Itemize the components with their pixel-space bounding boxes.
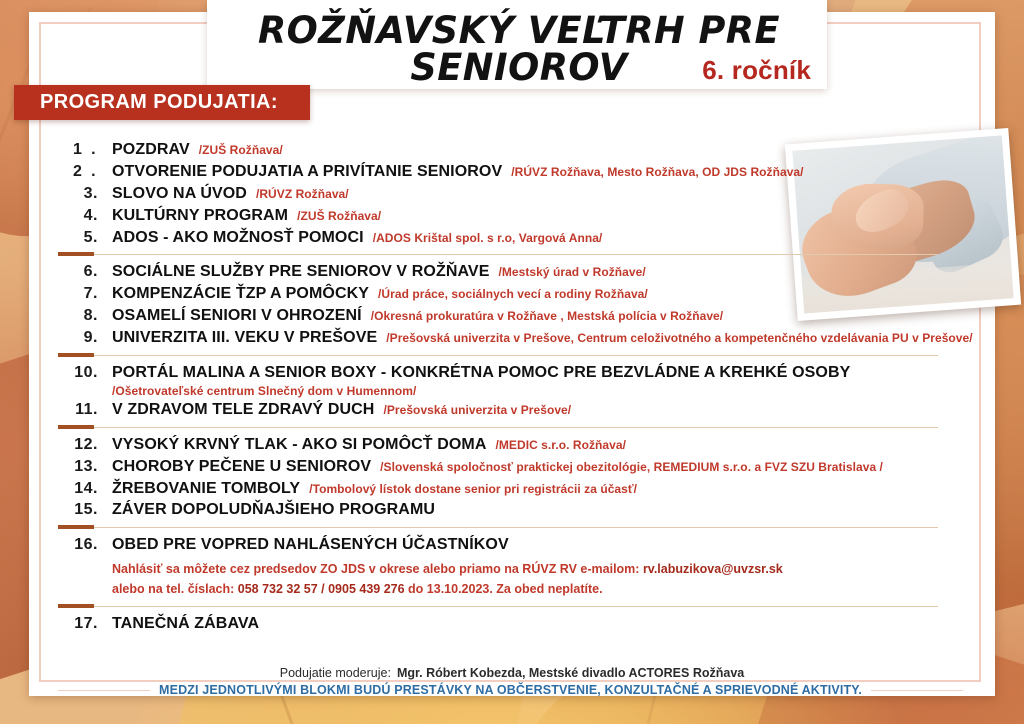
program-group: 6.SOCIÁLNE SLUŽBY PRE SENIOROV V ROŽŇAVE… — [58, 261, 963, 349]
contact-phone-numbers[interactable]: 058 732 32 57 / 0905 439 276 — [238, 582, 405, 596]
program-item-body: KULTÚRNY PROGRAM/ZUŠ Rožňava/ — [98, 207, 963, 226]
contact-deadline: do 13.10.2023. Za obed neplatíte. — [405, 582, 603, 596]
program-item: 7.KOMPENZÁCIE ŤZP A POMÔCKY/Úrad práce, … — [58, 283, 963, 305]
program-item-number: 15. — [58, 501, 98, 520]
footer-note-text: MEDZI JEDNOTLIVÝMI BLOKMI BUDÚ PRESTÁVKY… — [159, 683, 862, 697]
footer-note: MEDZI JEDNOTLIVÝMI BLOKMI BUDÚ PRESTÁVKY… — [58, 683, 963, 697]
footer-rule-right — [871, 690, 963, 691]
edition-label: 6. ročník — [702, 55, 811, 86]
program-item-note: /Prešovská univerzita v Prešove/ — [383, 403, 571, 417]
program-item-title: ADOS - AKO MOŽNOSŤ POMOCI — [112, 229, 364, 246]
program-item-line: SOCIÁLNE SLUŽBY PRE SENIOROV V ROŽŇAVE/M… — [112, 263, 963, 282]
footer-rule-left — [58, 690, 150, 691]
program-item-title: KOMPENZÁCIE ŤZP A POMÔCKY — [112, 285, 369, 302]
program-list: 1 .POZDRAV/ZUŠ Rožňava/2 .OTVORENIE PODU… — [58, 139, 963, 635]
program-item-note: /Úrad práce, sociálnych vecí a rodiny Ro… — [378, 287, 648, 301]
separator-dash — [58, 604, 94, 608]
program-item-line: ADOS - AKO MOŽNOSŤ POMOCI/ADOS Krištal s… — [112, 229, 963, 248]
group-separator — [58, 521, 963, 534]
program-item-body: OSAMELÍ SENIORI V OHROZENÍ/Okresná proku… — [98, 307, 963, 326]
separator-dash — [58, 525, 94, 529]
program-item-line: KULTÚRNY PROGRAM/ZUŠ Rožňava/ — [112, 207, 963, 226]
program-item-body: ŽREBOVANIE TOMBOLY/Tombolový lístok dost… — [98, 480, 963, 499]
program-item: 1 .POZDRAV/ZUŠ Rožňava/ — [58, 139, 963, 161]
program-group: 17.TANEČNÁ ZÁBAVA — [58, 613, 963, 635]
program-item: 12.VYSOKÝ KRVNÝ TLAK - AKO SI POMÔCŤ DOM… — [58, 434, 963, 456]
program-item-body: SLOVO NA ÚVOD/RÚVZ Rožňava/ — [98, 185, 963, 204]
group-separator — [58, 421, 963, 434]
program-item-title: SOCIÁLNE SLUŽBY PRE SENIOROV V ROŽŇAVE — [112, 263, 489, 280]
separator-dash — [58, 252, 94, 256]
program-item-number: 11. — [58, 401, 98, 420]
moderator-label: Podujatie moderuje: — [280, 666, 391, 680]
program-item: 17.TANEČNÁ ZÁBAVA — [58, 613, 963, 635]
program-item-body: POZDRAV/ZUŠ Rožňava/ — [98, 141, 963, 160]
program-item-number: 13. — [58, 458, 98, 477]
program-item-number: 12. — [58, 436, 98, 455]
program-item: 9.UNIVERZITA III. VEKU V PREŠOVE/Prešovs… — [58, 327, 963, 349]
program-item-title: OTVORENIE PODUJATIA A PRIVÍTANIE SENIORO… — [112, 163, 502, 180]
program-item: 2 .OTVORENIE PODUJATIA A PRIVÍTANIE SENI… — [58, 161, 963, 183]
program-item-number: 10. — [58, 364, 98, 383]
contact-line-email: Nahlásiť sa môžete cez predsedov ZO JDS … — [112, 560, 963, 579]
program-item-note: /ADOS Krištal spol. s r.o, Vargová Anna/ — [373, 231, 603, 245]
program-item: 16.OBED PRE VOPRED NAHLÁSENÝCH ÚČASTNÍKO… — [58, 534, 963, 600]
contact-phone-label: alebo na tel. číslach: — [112, 582, 238, 596]
program-item: 14.ŽREBOVANIE TOMBOLY/Tombolový lístok d… — [58, 478, 963, 500]
program-item-title: V ZDRAVOM TELE ZDRAVÝ DUCH — [112, 401, 374, 418]
separator-line — [58, 355, 938, 356]
program-item-line: CHOROBY PEČENE U SENIOROV/Slovenská spol… — [112, 458, 963, 477]
program-item-note: /Okresná prokuratúra v Rožňave , Mestská… — [371, 309, 723, 323]
contact-instructions: Nahlásiť sa môžete cez predsedov ZO JDS … — [112, 562, 643, 576]
program-item-line: UNIVERZITA III. VEKU V PREŠOVE/Prešovská… — [112, 329, 973, 348]
program-item-line: V ZDRAVOM TELE ZDRAVÝ DUCH/Prešovská uni… — [112, 401, 963, 420]
program-item: 5.ADOS - AKO MOŽNOSŤ POMOCI/ADOS Krištal… — [58, 227, 963, 249]
moderator-line: Podujatie moderuje:Mgr. Róbert Kobezda, … — [0, 666, 1024, 680]
program-item-note: /ZUŠ Rožňava/ — [297, 209, 381, 223]
program-item-body: OBED PRE VOPRED NAHLÁSENÝCH ÚČASTNÍKOVNa… — [98, 536, 963, 599]
program-item-number: 4. — [58, 207, 98, 226]
group-separator — [58, 349, 963, 362]
program-item: 6.SOCIÁLNE SLUŽBY PRE SENIOROV V ROŽŇAVE… — [58, 261, 963, 283]
program-item-line: PORTÁL MALINA A SENIOR BOXY - KONKRÉTNA … — [112, 364, 963, 383]
program-item-body: UNIVERZITA III. VEKU V PREŠOVE/Prešovská… — [98, 329, 973, 348]
program-item-title: OBED PRE VOPRED NAHLÁSENÝCH ÚČASTNÍKOV — [112, 536, 509, 553]
program-item-number: 2 . — [58, 163, 98, 182]
program-heading-label: PROGRAM PODUJATIA: — [40, 91, 278, 114]
program-item-number: 9. — [58, 329, 98, 348]
program-item-title: KULTÚRNY PROGRAM — [112, 207, 288, 224]
program-item-note: /Ošetrovateľské centrum Slnečný dom v Hu… — [112, 384, 963, 398]
separator-line — [58, 427, 938, 428]
program-item-number: 16. — [58, 536, 98, 555]
program-item-line: SLOVO NA ÚVOD/RÚVZ Rožňava/ — [112, 185, 963, 204]
program-item: 11.V ZDRAVOM TELE ZDRAVÝ DUCH/Prešovská … — [58, 399, 963, 421]
program-item-line: ZÁVER DOPOLUDŇAJŠIEHO PROGRAMU — [112, 501, 963, 520]
program-item: 8.OSAMELÍ SENIORI V OHROZENÍ/Okresná pro… — [58, 305, 963, 327]
program-item-note: /ZUŠ Rožňava/ — [199, 143, 283, 157]
program-item-note: /RÚVZ Rožňava/ — [256, 187, 349, 201]
leaf-vein — [280, 693, 324, 724]
program-item-note: /MEDIC s.r.o. Rožňava/ — [496, 438, 626, 452]
program-item-title: UNIVERZITA III. VEKU V PREŠOVE — [112, 329, 377, 346]
program-item-title: TANEČNÁ ZÁBAVA — [112, 615, 259, 632]
separator-line — [58, 606, 938, 607]
program-heading-banner: PROGRAM PODUJATIA: — [14, 85, 310, 120]
program-item-line: OSAMELÍ SENIORI V OHROZENÍ/Okresná proku… — [112, 307, 963, 326]
program-item-number: 3. — [58, 185, 98, 204]
program-item-title: VYSOKÝ KRVNÝ TLAK - AKO SI POMÔCŤ DOMA — [112, 436, 487, 453]
program-item-number: 6. — [58, 263, 98, 282]
program-group: 1 .POZDRAV/ZUŠ Rožňava/2 .OTVORENIE PODU… — [58, 139, 963, 248]
program-item-note: /RÚVZ Rožňava, Mesto Rožňava, OD JDS Rož… — [511, 165, 803, 179]
program-item-line: ŽREBOVANIE TOMBOLY/Tombolový lístok dost… — [112, 480, 963, 499]
program-item-number: 8. — [58, 307, 98, 326]
program-item-note: /Prešovská univerzita v Prešove, Centrum… — [386, 331, 972, 345]
program-item-title: SLOVO NA ÚVOD — [112, 185, 247, 202]
program-item-line: KOMPENZÁCIE ŤZP A POMÔCKY/Úrad práce, so… — [112, 285, 963, 304]
program-item-line: POZDRAV/ZUŠ Rožňava/ — [112, 141, 963, 160]
program-item: 4.KULTÚRNY PROGRAM/ZUŠ Rožňava/ — [58, 205, 963, 227]
program-item-note: /Mestský úrad v Rožňave/ — [498, 265, 645, 279]
moderator-value: Mgr. Róbert Kobezda, Mestské divadlo ACT… — [397, 666, 744, 680]
program-item-body: CHOROBY PEČENE U SENIOROV/Slovenská spol… — [98, 458, 963, 477]
title-plaque: ROŽŇAVSKÝ VEĽTRH PRE SENIOROV 6. ročník — [207, 0, 827, 89]
program-item-body: ADOS - AKO MOŽNOSŤ POMOCI/ADOS Krištal s… — [98, 229, 963, 248]
group-separator — [58, 248, 963, 261]
program-item-line: TANEČNÁ ZÁBAVA — [112, 615, 963, 634]
program-item-note: /Slovenská spoločnosť praktickej obezito… — [380, 460, 883, 474]
program-item: 13.CHOROBY PEČENE U SENIOROV/Slovenská s… — [58, 456, 963, 478]
contact-email[interactable]: rv.labuzikova@uvzsr.sk — [643, 562, 783, 576]
program-item-body: OTVORENIE PODUJATIA A PRIVÍTANIE SENIORO… — [98, 163, 963, 182]
separator-dash — [58, 353, 94, 357]
program-item-title: POZDRAV — [112, 141, 190, 158]
separator-line — [58, 254, 938, 255]
program-item-body: PORTÁL MALINA A SENIOR BOXY - KONKRÉTNA … — [98, 364, 963, 398]
group-separator — [58, 600, 963, 613]
program-item: 15.ZÁVER DOPOLUDŇAJŠIEHO PROGRAMU — [58, 499, 963, 521]
program-group: 12.VYSOKÝ KRVNÝ TLAK - AKO SI POMÔCŤ DOM… — [58, 434, 963, 522]
program-group: 16.OBED PRE VOPRED NAHLÁSENÝCH ÚČASTNÍKO… — [58, 534, 963, 600]
program-item-body: VYSOKÝ KRVNÝ TLAK - AKO SI POMÔCŤ DOMA/M… — [98, 436, 963, 455]
contact-line-phone: alebo na tel. číslach: 058 732 32 57 / 0… — [112, 580, 963, 599]
separator-dash — [58, 425, 94, 429]
program-item-line: OBED PRE VOPRED NAHLÁSENÝCH ÚČASTNÍKOV — [112, 536, 963, 555]
program-item-line: OTVORENIE PODUJATIA A PRIVÍTANIE SENIORO… — [112, 163, 963, 182]
program-item-body: ZÁVER DOPOLUDŇAJŠIEHO PROGRAMU — [98, 501, 963, 520]
registration-contact-block: Nahlásiť sa môžete cez predsedov ZO JDS … — [112, 560, 963, 599]
program-item-number: 17. — [58, 615, 98, 634]
program-item-line: VYSOKÝ KRVNÝ TLAK - AKO SI POMÔCŤ DOMA/M… — [112, 436, 963, 455]
program-item: 3.SLOVO NA ÚVOD/RÚVZ Rožňava/ — [58, 183, 963, 205]
program-item-body: TANEČNÁ ZÁBAVA — [98, 615, 963, 634]
program-item-body: KOMPENZÁCIE ŤZP A POMÔCKY/Úrad práce, so… — [98, 285, 963, 304]
program-item-title: OSAMELÍ SENIORI V OHROZENÍ — [112, 307, 362, 324]
program-item-number: 7. — [58, 285, 98, 304]
program-item-body: V ZDRAVOM TELE ZDRAVÝ DUCH/Prešovská uni… — [98, 401, 963, 420]
program-group: 10.PORTÁL MALINA A SENIOR BOXY - KONKRÉT… — [58, 362, 963, 421]
program-item-note: /Tombolový lístok dostane senior pri reg… — [309, 482, 637, 496]
program-item-title: CHOROBY PEČENE U SENIOROV — [112, 458, 371, 475]
program-item-title: ŽREBOVANIE TOMBOLY — [112, 480, 300, 497]
program-item-title: PORTÁL MALINA A SENIOR BOXY - KONKRÉTNA … — [112, 364, 850, 381]
program-item-title: ZÁVER DOPOLUDŇAJŠIEHO PROGRAMU — [112, 501, 435, 518]
program-item-number: 5. — [58, 229, 98, 248]
program-item-body: SOCIÁLNE SLUŽBY PRE SENIOROV V ROŽŇAVE/M… — [98, 263, 963, 282]
program-item: 10.PORTÁL MALINA A SENIOR BOXY - KONKRÉT… — [58, 362, 963, 399]
separator-line — [58, 527, 938, 528]
program-item-number: 14. — [58, 480, 98, 499]
program-item-number: 1 . — [58, 141, 98, 160]
